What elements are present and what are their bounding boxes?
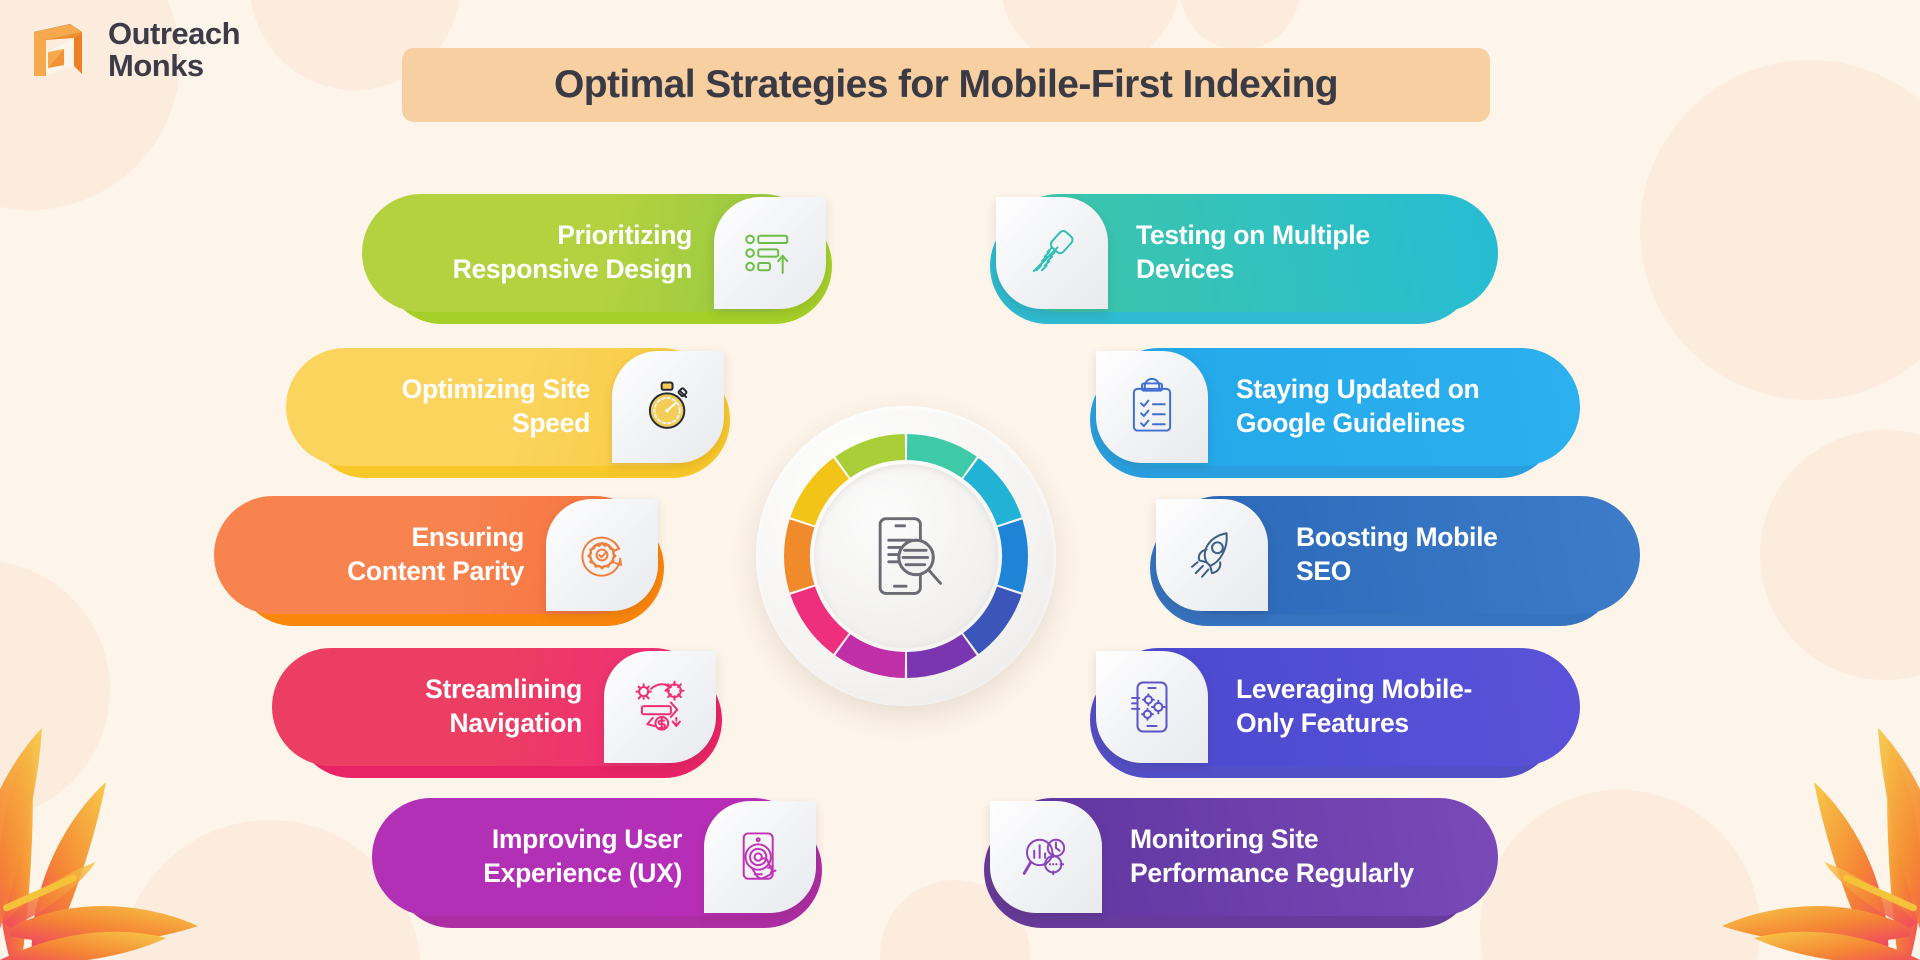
brand-name-line2: Monks	[108, 50, 240, 82]
wheel-segment	[1010, 523, 1015, 588]
mobile-tap-icon	[731, 828, 789, 886]
title-banner: Optimal Strategies for Mobile-First Inde…	[402, 48, 1490, 122]
card-label: PrioritizingResponsive Design	[453, 219, 692, 287]
card-label: Leveraging Mobile-Only Features	[1236, 673, 1472, 741]
bg-blob	[1180, 0, 1300, 50]
card-icon-box	[704, 801, 816, 913]
card-icon-box	[604, 651, 716, 763]
card-label: Monitoring SitePerformance Regularly	[1130, 823, 1414, 891]
card-label: StreamliningNavigation	[425, 673, 582, 741]
strategy-card[interactable]: Monitoring SitePerformance Regularly	[994, 798, 1498, 916]
rocket-icon	[1183, 526, 1241, 584]
strategy-card[interactable]: Staying Updated onGoogle Guidelines	[1100, 348, 1580, 466]
leaf-decoration-icon	[0, 630, 270, 960]
bg-blob	[1640, 60, 1920, 400]
card-icon-box	[990, 801, 1102, 913]
bg-blob	[0, 560, 110, 820]
strategy-card[interactable]: Boosting MobileSEO	[1160, 496, 1640, 614]
workflow-gear-icon	[631, 678, 689, 736]
bg-blob	[1480, 790, 1760, 960]
card-label: Boosting MobileSEO	[1296, 521, 1498, 589]
analytics-search-icon	[1017, 828, 1075, 886]
card-icon-box	[996, 197, 1108, 309]
strategy-card[interactable]: Improving UserExperience (UX)	[372, 798, 812, 916]
brand-logo[interactable]: Outreach Monks	[30, 18, 240, 82]
card-icon-box	[612, 351, 724, 463]
strategy-card[interactable]: Testing on MultipleDevices	[1000, 194, 1498, 312]
card-icon-box	[1096, 351, 1208, 463]
strategy-card[interactable]: Leveraging Mobile-Only Features	[1100, 648, 1580, 766]
wheel-segment	[797, 523, 802, 588]
leaf-decoration-icon	[1650, 630, 1920, 960]
content-sync-icon	[573, 526, 631, 584]
card-label: Testing on MultipleDevices	[1136, 219, 1370, 287]
card-icon-box	[714, 197, 826, 309]
mobile-search-icon	[860, 510, 952, 602]
brand-name-line1: Outreach	[108, 18, 240, 50]
card-icon-box	[546, 499, 658, 611]
wheel-hub	[814, 464, 998, 648]
strategy-card[interactable]: PrioritizingResponsive Design	[362, 194, 822, 312]
strategy-card[interactable]: EnsuringContent Parity	[214, 496, 654, 614]
center-wheel	[756, 406, 1056, 706]
card-label: EnsuringContent Parity	[347, 521, 524, 589]
test-probe-icon	[1023, 224, 1081, 282]
cube-logo-icon	[30, 18, 94, 82]
wheel-segment	[907, 645, 969, 665]
brand-name: Outreach Monks	[108, 18, 240, 81]
card-label: Staying Updated onGoogle Guidelines	[1236, 373, 1479, 441]
stopwatch-icon	[639, 378, 697, 436]
card-icon-box	[1156, 499, 1268, 611]
card-label: Improving UserExperience (UX)	[483, 823, 682, 891]
mobile-gears-icon	[1123, 678, 1181, 736]
clipboard-check-icon	[1123, 378, 1181, 436]
strategy-card[interactable]: StreamliningNavigation	[272, 648, 712, 766]
strategy-card[interactable]: Optimizing SiteSpeed	[286, 348, 720, 466]
wheel-segment	[843, 645, 905, 665]
card-icon-box	[1096, 651, 1208, 763]
card-label: Optimizing SiteSpeed	[402, 373, 590, 441]
responsive-list-icon	[741, 224, 799, 282]
bg-blob	[1760, 430, 1920, 680]
page-title: Optimal Strategies for Mobile-First Inde…	[554, 63, 1338, 107]
